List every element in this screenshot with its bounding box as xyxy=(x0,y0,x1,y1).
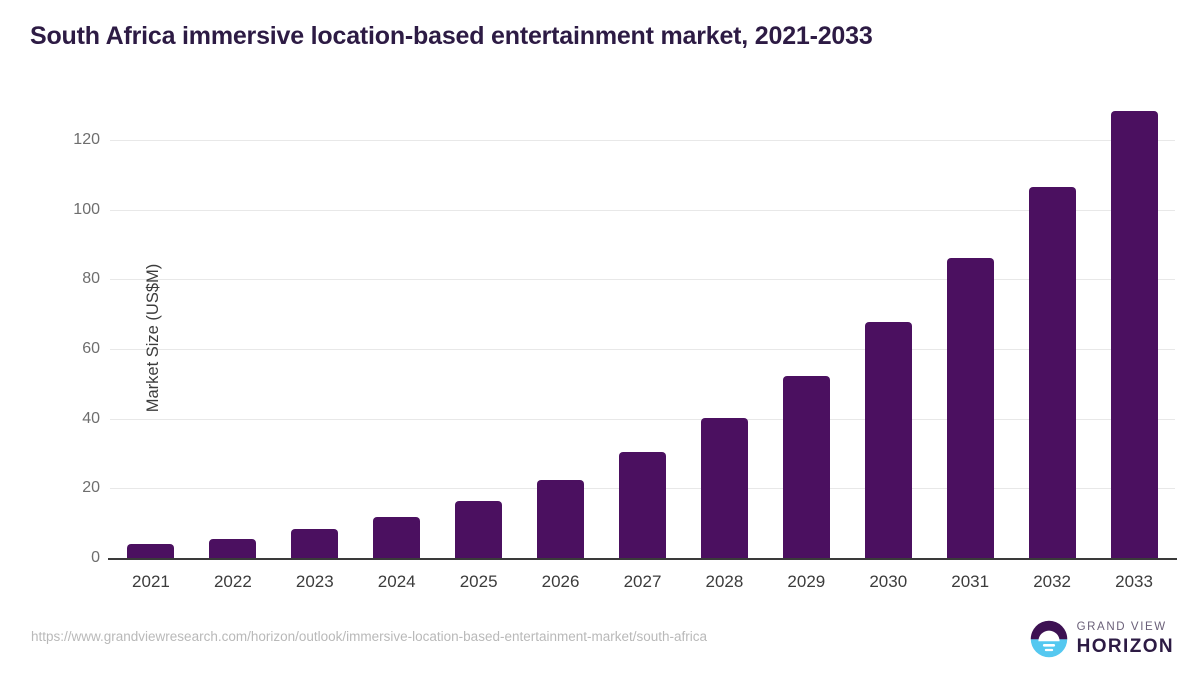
x-axis-tick-label: 2024 xyxy=(352,572,442,592)
logo-line-horizon: HORIZON xyxy=(1077,637,1174,656)
x-axis-tick-label: 2023 xyxy=(270,572,360,592)
logo-line-grand-view: GRAND VIEW xyxy=(1077,622,1174,634)
x-axis-tick-label: 2026 xyxy=(516,572,606,592)
source-url[interactable]: https://www.grandviewresearch.com/horizo… xyxy=(31,629,707,644)
brand-logo[interactable]: GRAND VIEW HORIZON xyxy=(1030,620,1174,658)
x-axis-tick-label: 2032 xyxy=(1007,572,1097,592)
chart-canvas: 020406080100120 Market Size (US$M) 20212… xyxy=(0,0,1200,675)
x-axis-tick-label: 2022 xyxy=(188,572,278,592)
x-axis-tick-label: 2028 xyxy=(679,572,769,592)
logo-text: GRAND VIEW HORIZON xyxy=(1077,622,1174,656)
chart-card: South Africa immersive location-based en… xyxy=(0,0,1200,675)
horizon-logo-icon xyxy=(1030,620,1068,658)
x-axis-tick-labels: 2021202220232024202520262027202820292030… xyxy=(0,0,1200,675)
x-axis-tick-label: 2031 xyxy=(925,572,1015,592)
x-axis-tick-label: 2033 xyxy=(1089,572,1179,592)
x-axis-tick-label: 2027 xyxy=(598,572,688,592)
x-axis-tick-label: 2029 xyxy=(761,572,851,592)
x-axis-tick-label: 2025 xyxy=(434,572,524,592)
x-axis-tick-label: 2021 xyxy=(106,572,196,592)
x-axis-tick-label: 2030 xyxy=(843,572,933,592)
